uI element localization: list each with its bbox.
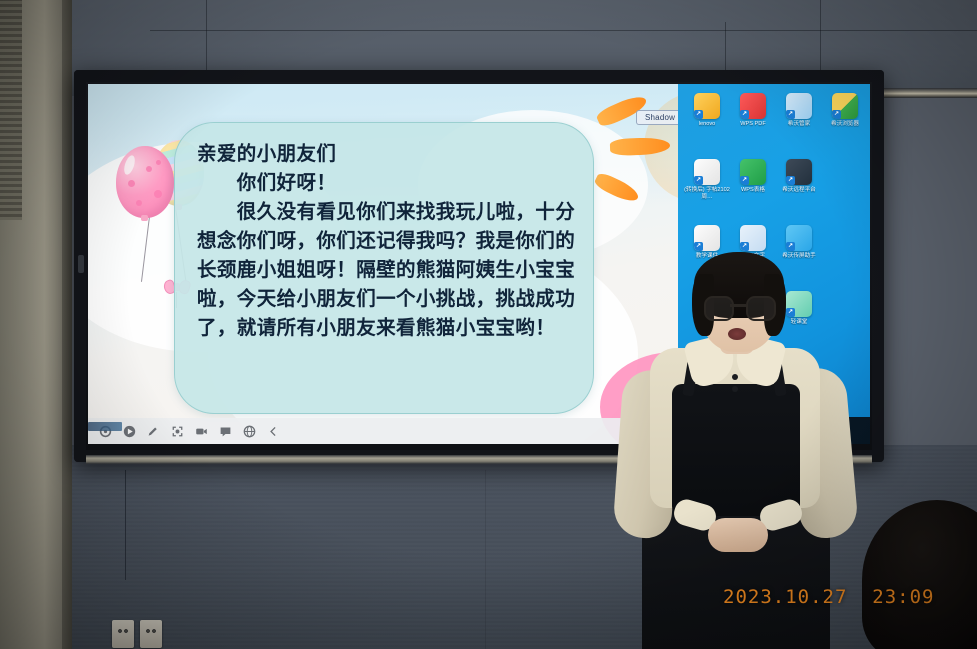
- presenter-hands: [708, 518, 768, 552]
- shadow-mode-badge[interactable]: Shadow Mode: [636, 110, 678, 125]
- wall-seam: [485, 470, 486, 649]
- pen-icon[interactable]: [147, 425, 160, 438]
- wps-excel-icon: ↗: [740, 159, 766, 185]
- wall-seam: [150, 30, 977, 31]
- shortcut-arrow-icon: ↗: [786, 242, 795, 251]
- presenter-button: [732, 386, 738, 392]
- desktop-icon-label: (转换后) 字帖2102周…: [684, 187, 730, 201]
- classroom-scene: 亲爱的小朋友们 你们好呀！ 很久没有看见你们来找我玩儿啦，十分想念你们呀，你们还…: [0, 0, 977, 649]
- desktop-icon-lenovo-icon[interactable]: ↗lenovo: [684, 90, 730, 156]
- comment-icon[interactable]: [219, 425, 232, 438]
- desktop-icon-label: 希沃远程平台: [776, 187, 822, 194]
- play-icon[interactable]: [123, 425, 136, 438]
- desktop-icon-wps-pdf-icon[interactable]: ↗WPS PDF: [730, 90, 776, 156]
- desktop-icon-label: lenovo: [684, 121, 730, 128]
- shortcut-arrow-icon: ↗: [832, 110, 841, 119]
- shortcut-arrow-icon: ↗: [786, 176, 795, 185]
- slide-text-card: 亲爱的小朋友们 你们好呀！ 很久没有看见你们来找我玩儿啦，十分想念你们呀，你们还…: [174, 122, 594, 414]
- slide-text: 亲爱的小朋友们 你们好呀！ 很久没有看见你们来找我玩儿啦，十分想念你们呀，你们还…: [197, 139, 579, 342]
- seewo-browser-icon: ↗: [832, 93, 858, 119]
- ppt-file-icon: ↗: [694, 159, 720, 185]
- desktop-icon-seewo-remote-icon[interactable]: ↗希沃远程平台: [776, 156, 822, 222]
- slide-toolbar[interactable]: [88, 418, 678, 444]
- shortcut-arrow-icon: ↗: [694, 110, 703, 119]
- shortcut-arrow-icon: ↗: [786, 110, 795, 119]
- eyeglasses-icon: [704, 296, 734, 321]
- wps-word-icon: ↗: [740, 225, 766, 251]
- desktop-icon-seewo-manager-icon[interactable]: ↗希沃管家: [776, 90, 822, 156]
- pillar-edge: [62, 0, 72, 649]
- power-outlet: [140, 620, 162, 648]
- whiteboard-side-button[interactable]: [78, 255, 84, 273]
- desktop-icon-ppt-file-icon[interactable]: ↗(转换后) 字帖2102周…: [684, 156, 730, 222]
- power-outlet: [112, 620, 134, 648]
- wps-pdf-icon: ↗: [740, 93, 766, 119]
- seewo-manager-icon: ↗: [786, 93, 812, 119]
- presenter-button: [732, 374, 738, 380]
- whiteboard-brand-logo: [88, 422, 122, 431]
- camera-timestamp: 2023.10.27 23:09: [723, 586, 934, 608]
- presentation-slide: 亲爱的小朋友们 你们好呀！ 很久没有看见你们来找我玩儿啦，十分想念你们呀，你们还…: [88, 84, 678, 444]
- shortcut-arrow-icon: ↗: [740, 242, 749, 251]
- balloon-knot: [141, 215, 148, 221]
- desktop-icon-label: WPS PDF: [730, 121, 776, 128]
- crop-icon[interactable]: [171, 425, 184, 438]
- chevron-left-icon[interactable]: [267, 425, 280, 438]
- shortcut-arrow-icon: ↗: [694, 242, 703, 251]
- wall-cable: [125, 470, 126, 580]
- eyeglasses-bridge: [730, 304, 746, 307]
- desktop-icon-label: 希沃浏览器: [822, 121, 868, 128]
- balloon-pink-icon: [116, 146, 174, 218]
- camera-icon[interactable]: [195, 425, 208, 438]
- seewo-remote-icon: ↗: [786, 159, 812, 185]
- pillar-vent: [0, 0, 22, 220]
- globe-icon[interactable]: [243, 425, 256, 438]
- lenovo-icon: ↗: [694, 93, 720, 119]
- desktop-icon-label: WPS表格: [730, 187, 776, 194]
- presenter-pinafore: [672, 384, 800, 516]
- shortcut-arrow-icon: ↗: [694, 176, 703, 185]
- seewo-link-icon: ↗: [786, 225, 812, 251]
- desktop-icon-seewo-browser-icon[interactable]: ↗希沃浏览器: [822, 90, 868, 156]
- desktop-icon-label: 希沃管家: [776, 121, 822, 128]
- presenter-mouth: [728, 328, 746, 340]
- shortcut-arrow-icon: ↗: [740, 176, 749, 185]
- desktop-icon-wps-excel-icon[interactable]: ↗WPS表格: [730, 156, 776, 222]
- eyeglasses-icon: [746, 296, 776, 321]
- shortcut-arrow-icon: ↗: [740, 110, 749, 119]
- ppt-file-icon: ↗: [694, 225, 720, 251]
